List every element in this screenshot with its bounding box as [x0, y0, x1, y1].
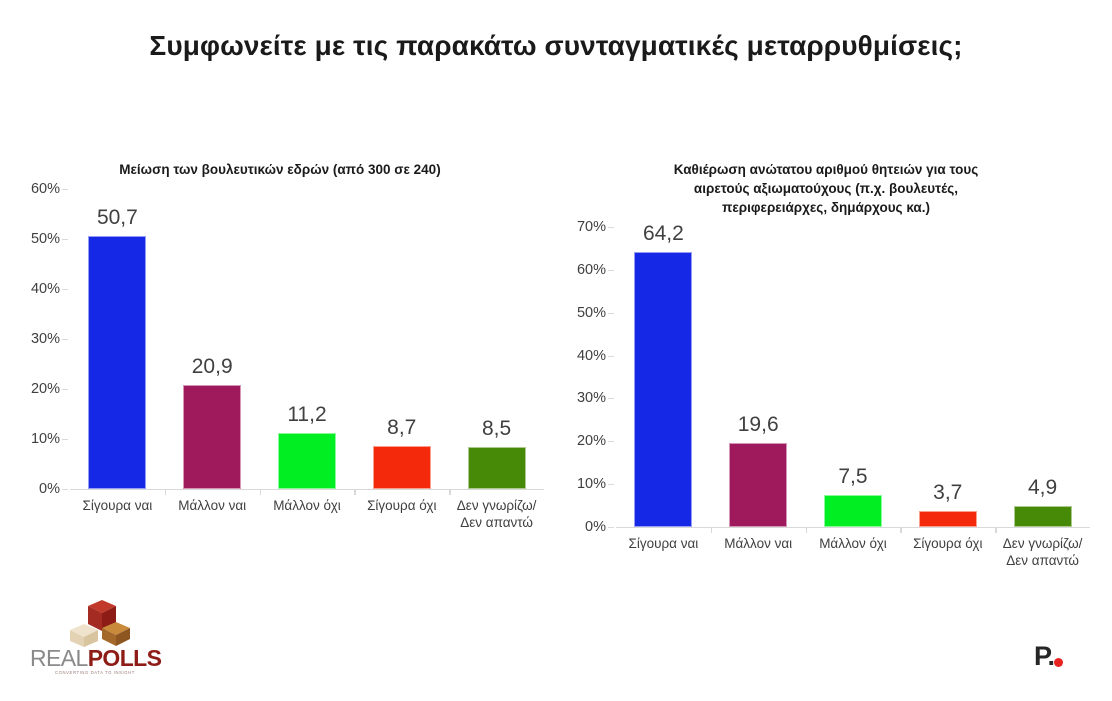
plot-area-left: 50,720,911,28,78,5 — [70, 189, 544, 490]
bar-column: 50,7 — [70, 189, 165, 489]
bar — [468, 447, 526, 490]
y-axis-right: 70%60%50%40%30%20%10%0% — [556, 227, 614, 527]
x-tick-label: Σίγουρα όχι — [354, 497, 449, 531]
x-tick-label: Δεν γνωρίζω/ Δεν απαντώ — [449, 497, 544, 531]
bar-column: 20,9 — [165, 189, 260, 489]
y-tick-label: 20% — [31, 381, 60, 397]
bar-value-label: 50,7 — [97, 207, 138, 228]
page-title: Συμφωνείτε με τις παρακάτω συνταγματικές… — [0, 30, 1112, 62]
x-tick-label: Σίγουρα ναι — [616, 535, 711, 569]
y-tick-mark — [608, 270, 614, 271]
bar-value-label: 8,5 — [482, 418, 511, 439]
y-tick-mark — [62, 339, 68, 340]
x-axis-right: Σίγουρα ναιΜάλλον ναιΜάλλον όχιΣίγουρα ό… — [616, 535, 1090, 569]
secondary-logo-dot — [1054, 658, 1063, 667]
y-axis-left: 60%50%40%30%20%10%0% — [10, 189, 68, 489]
y-tick-label: 40% — [31, 281, 60, 297]
bar — [729, 443, 787, 527]
chart-title-right: Καθιέρωση ανώτατου αριθμού θητειών για τ… — [666, 160, 986, 217]
y-tick-label: 0% — [39, 481, 60, 497]
x-tick-label: Μάλλον όχι — [806, 535, 901, 569]
bar — [824, 495, 882, 527]
bar-value-label: 19,6 — [738, 414, 779, 435]
bar-column: 3,7 — [900, 227, 995, 527]
y-tick-mark — [62, 439, 68, 440]
y-tick-label: 10% — [31, 431, 60, 447]
realpolls-logo: REALPOLLS CONVERTING DATA TO INSIGHT — [30, 600, 160, 680]
x-axis-left: Σίγουρα ναιΜάλλον ναιΜάλλον όχιΣίγουρα ό… — [70, 497, 544, 531]
y-tick-label: 70% — [577, 219, 606, 235]
y-tick-label: 30% — [577, 390, 606, 406]
y-tick-label: 0% — [585, 519, 606, 535]
y-tick-mark — [62, 189, 68, 190]
bar-value-label: 7,5 — [838, 466, 867, 487]
bar-column: 8,5 — [449, 189, 544, 489]
y-tick-mark — [608, 313, 614, 314]
bar-column: 64,2 — [616, 227, 711, 527]
bar-value-label: 20,9 — [192, 356, 233, 377]
bar-column: 19,6 — [711, 227, 806, 527]
realpolls-word-real: REAL — [30, 645, 88, 671]
x-tick-label: Μάλλον ναι — [711, 535, 806, 569]
bar — [373, 446, 431, 490]
bar — [88, 236, 146, 490]
bar-value-label: 8,7 — [387, 417, 416, 438]
y-tick-label: 60% — [31, 181, 60, 197]
plot-right: 70%60%50%40%30%20%10%0% 64,219,67,53,74,… — [556, 227, 1096, 527]
x-tick-label: Σίγουρα ναι — [70, 497, 165, 531]
realpolls-word-polls: POLLS — [88, 645, 162, 671]
y-tick-mark — [608, 441, 614, 442]
y-tick-label: 40% — [577, 348, 606, 364]
chart-panel-left: Μείωση των βουλευτικών εδρών (από 300 σε… — [10, 160, 550, 489]
y-tick-label: 20% — [577, 433, 606, 449]
y-tick-mark — [608, 356, 614, 357]
y-tick-mark — [608, 398, 614, 399]
chart-panel-right: Καθιέρωση ανώτατου αριθμού θητειών για τ… — [556, 160, 1096, 527]
secondary-logo: P. — [1034, 642, 1076, 672]
x-tick-label: Μάλλον όχι — [260, 497, 355, 531]
bar — [183, 385, 241, 490]
bar — [278, 433, 336, 489]
realpolls-tagline: CONVERTING DATA TO INSIGHT — [30, 670, 160, 675]
plot-area-right: 64,219,67,53,74,9 — [616, 227, 1090, 528]
y-tick-label: 60% — [577, 262, 606, 278]
y-tick-mark — [62, 289, 68, 290]
bar-column: 4,9 — [995, 227, 1090, 527]
realpolls-wordmark: REALPOLLS — [30, 647, 160, 670]
bar — [919, 511, 977, 527]
y-tick-mark — [62, 239, 68, 240]
bar — [634, 252, 692, 527]
bar-value-label: 3,7 — [933, 482, 962, 503]
y-tick-mark — [608, 484, 614, 485]
bar — [1014, 506, 1072, 527]
y-tick-label: 10% — [577, 476, 606, 492]
x-tick-label: Δεν γνωρίζω/ Δεν απαντώ — [995, 535, 1090, 569]
x-tick-label: Μάλλον ναι — [165, 497, 260, 531]
chart-title-left: Μείωση των βουλευτικών εδρών (από 300 σε… — [115, 160, 445, 179]
cube-icon — [68, 600, 132, 648]
y-tick-mark — [62, 389, 68, 390]
y-tick-mark — [62, 489, 68, 490]
bar-column: 8,7 — [354, 189, 449, 489]
y-tick-mark — [608, 527, 614, 528]
x-tick-label: Σίγουρα όχι — [900, 535, 995, 569]
y-tick-label: 30% — [31, 331, 60, 347]
bar-value-label: 4,9 — [1028, 477, 1057, 498]
bar-column: 11,2 — [260, 189, 355, 489]
secondary-logo-letter: P. — [1034, 641, 1054, 671]
bar-value-label: 11,2 — [287, 404, 326, 425]
plot-left: 60%50%40%30%20%10%0% 50,720,911,28,78,5 … — [10, 189, 550, 489]
y-tick-label: 50% — [577, 305, 606, 321]
bar-column: 7,5 — [806, 227, 901, 527]
y-tick-label: 50% — [31, 231, 60, 247]
y-tick-mark — [608, 227, 614, 228]
bar-value-label: 64,2 — [643, 223, 684, 244]
